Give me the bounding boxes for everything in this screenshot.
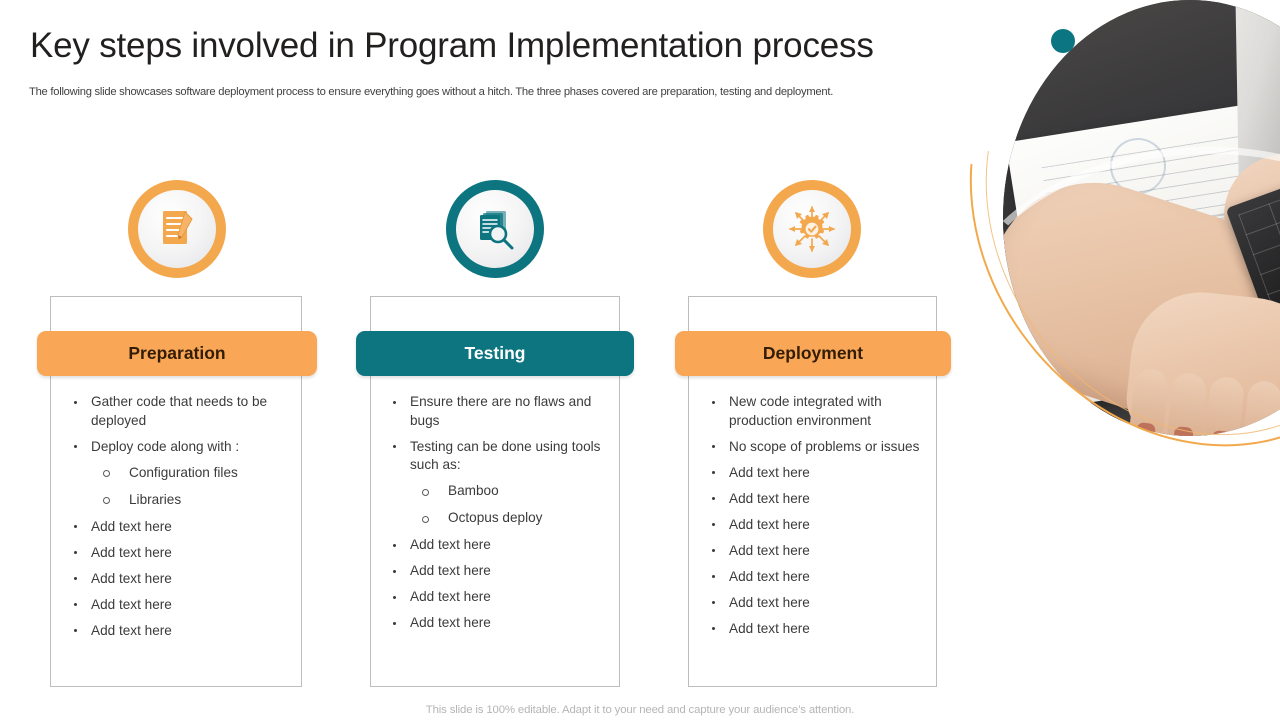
slide-canvas: Key steps involved in Program Implementa…	[0, 0, 1280, 720]
phase-bullet-list-preparation: Gather code that needs to be deployed De…	[65, 393, 301, 648]
list-item: Add text here	[703, 490, 939, 509]
list-item: Add text here	[703, 568, 939, 587]
list-item: Octopus deploy	[384, 509, 618, 528]
list-item: Libraries	[65, 491, 301, 510]
list-item: Add text here	[65, 622, 301, 641]
list-item: Add text here	[703, 542, 939, 561]
list-item: Gather code that needs to be deployed	[65, 393, 301, 430]
phase-bullet-list-testing: Ensure there are no flaws and bugs Testi…	[384, 393, 618, 640]
phase-title-badge-deployment[interactable]: Deployment	[675, 331, 951, 376]
list-item: Ensure there are no flaws and bugs	[384, 393, 618, 430]
list-item: No scope of problems or issues	[703, 438, 939, 457]
list-item: Add text here	[703, 594, 939, 613]
list-item: Add text here	[65, 570, 301, 589]
phase-bullet-list-deployment: New code integrated with production envi…	[703, 393, 939, 646]
list-item: Add text here	[65, 544, 301, 563]
list-item: Bamboo	[384, 482, 618, 501]
page-title: Key steps involved in Program Implementa…	[30, 24, 1030, 68]
phase-title-badge-preparation[interactable]: Preparation	[37, 331, 317, 376]
phase-title-badge-testing[interactable]: Testing	[356, 331, 634, 376]
teal-dot-accent	[1051, 29, 1075, 53]
list-item: New code integrated with production envi…	[703, 393, 939, 430]
editable-slide-note: This slide is 100% editable. Adapt it to…	[0, 704, 1280, 716]
list-item: Testing can be done using tools such as:	[384, 438, 618, 475]
list-item: Configuration files	[65, 464, 301, 483]
documents-magnifier-icon	[446, 180, 544, 278]
list-item: Add text here	[384, 614, 618, 633]
list-item: Add text here	[703, 516, 939, 535]
gear-arrows-icon	[763, 180, 861, 278]
list-item: Add text here	[384, 536, 618, 555]
page-subtitle: The following slide showcases software d…	[29, 85, 969, 100]
list-item: Add text here	[703, 464, 939, 483]
list-item: Add text here	[65, 518, 301, 537]
list-item: Deploy code along with :	[65, 438, 301, 457]
list-item: Add text here	[65, 596, 301, 615]
list-item: Add text here	[703, 620, 939, 639]
document-pen-icon	[128, 180, 226, 278]
list-item: Add text here	[384, 588, 618, 607]
list-item: Add text here	[384, 562, 618, 581]
